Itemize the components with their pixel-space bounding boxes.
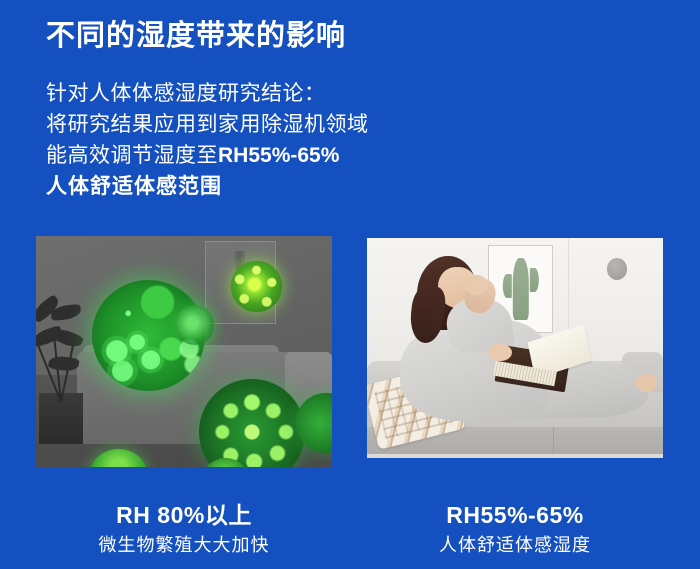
body-line-4: 人体舒适体感范围 [46, 171, 476, 202]
bright-room-scene [367, 238, 663, 458]
caption-title: RH55%-65% [367, 500, 663, 530]
cactus-illustration [513, 258, 529, 320]
body-line-1: 针对人体体感湿度研究结论： [46, 78, 476, 109]
body-line-2: 将研究结果应用到家用除湿机领域 [46, 109, 476, 140]
caption-subtitle: 微生物繁殖大大加快 [36, 532, 332, 559]
microbe-cluster-side [175, 305, 213, 344]
caption-comfort-humidity: RH55%-65% 人体舒适体感湿度 [367, 500, 663, 559]
humidity-range-highlight: RH55%-65% [218, 144, 339, 167]
microbe-sphere-small [231, 261, 281, 312]
caption-subtitle: 人体舒适体感湿度 [367, 532, 663, 559]
dim-plant [36, 305, 101, 402]
photo-high-humidity [36, 236, 332, 467]
body-line-3: 能高效调节湿度至RH55%-65% [46, 140, 476, 171]
page-title: 不同的湿度带来的影响 [46, 16, 346, 56]
body-copy: 针对人体体感湿度研究结论： 将研究结果应用到家用除湿机领域 能高效调节湿度至RH… [46, 78, 476, 202]
promo-slide: 不同的湿度带来的影响 针对人体体感湿度研究结论： 将研究结果应用到家用除湿机领域… [0, 0, 700, 569]
woman-foot [636, 374, 657, 392]
caption-title: RH 80%以上 [36, 500, 332, 530]
dim-plant-leaf [47, 354, 79, 373]
bright-sofa-seam [553, 427, 554, 453]
woman-hand-holding-book [488, 344, 512, 362]
dim-plant-leaf [36, 326, 63, 348]
photo-comfort-humidity [367, 238, 663, 458]
body-line-3-prefix: 能高效调节湿度至 [46, 144, 218, 167]
wall-speaker-icon [607, 258, 628, 280]
caption-high-humidity: RH 80%以上 微生物繁殖大大加快 [36, 500, 332, 559]
dim-room-scene [36, 236, 332, 467]
